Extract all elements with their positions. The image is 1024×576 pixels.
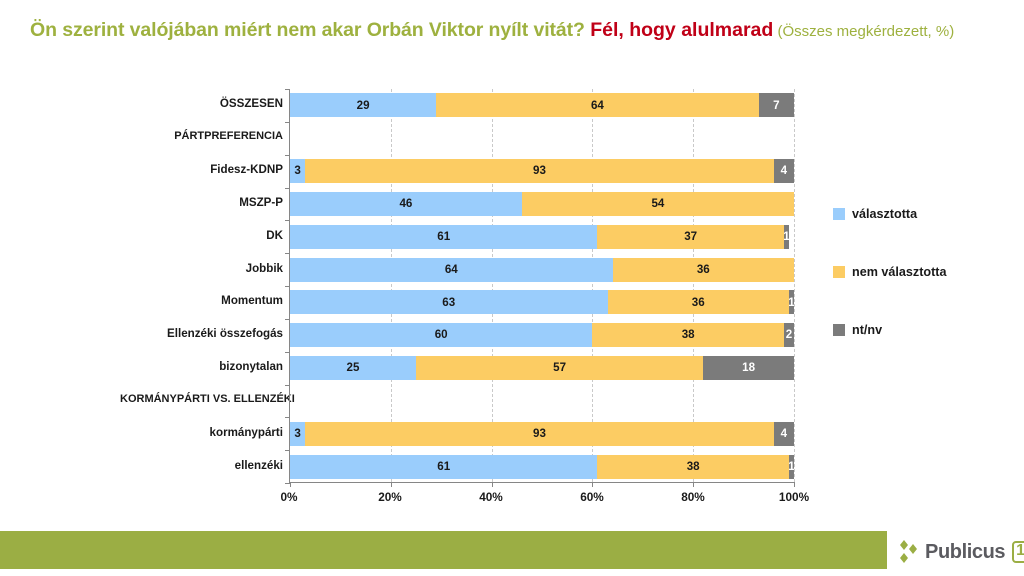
category-label-bizonytalan: bizonytalan — [120, 360, 283, 373]
bar-value-label: 54 — [651, 198, 664, 210]
x-axis-tick — [592, 482, 593, 487]
bar-value-label: 18 — [742, 362, 755, 374]
x-axis-label-40: 40% — [479, 490, 503, 504]
bar-value-label: 7 — [773, 100, 779, 112]
bar-segment-nt-nv[interactable]: 4 — [774, 159, 794, 183]
bar-value-label: 57 — [553, 362, 566, 374]
x-axis-label-0: 0% — [280, 490, 297, 504]
legend-item-nem-v-lasztotta[interactable]: nem választotta — [833, 265, 946, 279]
y-axis-tick — [285, 286, 290, 287]
bar-segment-nt-nv[interactable]: 1 — [784, 225, 789, 249]
bar-value-label: 61 — [437, 231, 450, 243]
bar-value-label: 36 — [692, 297, 705, 309]
legend-swatch-nem-valasztotta — [833, 266, 845, 278]
bar-value-label: 1 — [789, 461, 794, 473]
x-axis-label-20: 20% — [378, 490, 402, 504]
y-axis-tick — [285, 253, 290, 254]
bar-value-label: 29 — [357, 100, 370, 112]
bar-segment-nt-nv[interactable]: 7 — [759, 93, 794, 117]
x-axis-tick — [290, 482, 291, 487]
legend-swatch-valasztotta — [833, 208, 845, 220]
bar-row[interactable]: 3934 — [290, 159, 794, 183]
bar-row[interactable]: 255718 — [290, 356, 794, 380]
bar-value-label: 3 — [294, 428, 300, 440]
bar-value-label: 36 — [697, 264, 710, 276]
bar-segment-v-lasztotta[interactable]: 61 — [290, 455, 597, 479]
x-axis-tick — [492, 482, 493, 487]
bar-row[interactable]: 4654 — [290, 192, 794, 216]
bar-segment-v-lasztotta[interactable]: 3 — [290, 422, 305, 446]
bar-segment-v-lasztotta[interactable]: 46 — [290, 192, 522, 216]
x-axis-tick-labels: 0%20%40%60%80%100% — [289, 490, 794, 510]
category-axis-labels: ÖSSZESENPÁRTPREFERENCIAFidesz-KDNPMSZP-P… — [120, 89, 283, 483]
bar-value-label: 1 — [784, 231, 789, 243]
bar-segment-v-lasztotta[interactable]: 63 — [290, 290, 608, 314]
bar-row[interactable]: 3934 — [290, 422, 794, 446]
bar-value-label: 64 — [591, 100, 604, 112]
bar-segment-nem-v-lasztotta[interactable]: 38 — [597, 455, 789, 479]
title-main-text: Ön szerint valójában miért nem akar Orbá… — [30, 19, 590, 41]
bar-segment-nt-nv[interactable]: 18 — [703, 356, 794, 380]
bar-segment-nem-v-lasztotta[interactable]: 37 — [597, 225, 783, 249]
y-axis-tick — [285, 89, 290, 90]
x-axis-label-80: 80% — [681, 490, 705, 504]
y-axis-tick — [285, 417, 290, 418]
bar-value-label: 4 — [781, 165, 787, 177]
legend-swatch-ntnv — [833, 324, 845, 336]
bar-segment-nt-nv[interactable]: 1 — [789, 455, 794, 479]
slide-root: Ön szerint valójában miért nem akar Orbá… — [0, 0, 1024, 576]
bar-segment-nt-nv[interactable]: 1 — [789, 290, 794, 314]
category-label-sszesen: ÖSSZESEN — [120, 97, 283, 110]
bar-segment-nt-nv[interactable]: 4 — [774, 422, 794, 446]
bar-row[interactable]: 61381 — [290, 455, 794, 479]
bar-value-label: 3 — [294, 165, 300, 177]
category-label-ellenz-ki-sszefog-s: Ellenzéki összefogás — [120, 327, 283, 340]
bar-value-label: 93 — [533, 428, 546, 440]
bar-value-label: 4 — [781, 428, 787, 440]
bar-value-label: 25 — [347, 362, 360, 374]
bar-row[interactable]: 61371 — [290, 225, 794, 249]
category-label-mszp-p: MSZP-P — [120, 196, 283, 209]
legend-label: nem választotta — [852, 265, 946, 279]
legend-label: nt/nv — [852, 323, 882, 337]
bar-segment-nem-v-lasztotta[interactable]: 57 — [416, 356, 703, 380]
title-emphasis-text: Fél, hogy alulmarad — [590, 19, 773, 41]
y-axis-tick — [285, 155, 290, 156]
y-axis-tick — [285, 319, 290, 320]
bar-value-label: 38 — [682, 329, 695, 341]
bar-segment-v-lasztotta[interactable]: 3 — [290, 159, 305, 183]
bar-row[interactable]: 63361 — [290, 290, 794, 314]
bar-segment-v-lasztotta[interactable]: 25 — [290, 356, 416, 380]
publicus-diamond-icon — [897, 540, 919, 564]
bar-segment-nt-nv[interactable]: 2 — [784, 323, 794, 347]
x-axis-tick — [693, 482, 694, 487]
y-axis-tick — [285, 352, 290, 353]
bar-segment-nem-v-lasztotta[interactable]: 93 — [305, 159, 774, 183]
y-axis-tick — [285, 122, 290, 123]
category-label-korm-nyp-rti: kormánypárti — [120, 426, 283, 439]
category-label-p-rtpreferencia: PÁRTPREFERENCIA — [120, 130, 283, 142]
bar-value-label: 2 — [786, 329, 792, 341]
bar-segment-v-lasztotta[interactable]: 60 — [290, 323, 592, 347]
category-label-korm-nyp-rti-vs-ellenz-ki: KORMÁNYPÁRTI VS. ELLENZÉKI — [120, 393, 283, 405]
bar-segment-v-lasztotta[interactable]: 29 — [290, 93, 436, 117]
bar-segment-v-lasztotta[interactable]: 64 — [290, 258, 613, 282]
gridline-100 — [794, 89, 795, 482]
stacked-bar-chart: ÖSSZESENPÁRTPREFERENCIAFidesz-KDNPMSZP-P… — [0, 82, 1024, 502]
legend-item-nt-nv[interactable]: nt/nv — [833, 323, 882, 337]
bar-row[interactable]: 29647 — [290, 93, 794, 117]
category-label-fidesz-kdnp: Fidesz-KDNP — [120, 163, 283, 176]
bar-value-label: 37 — [684, 231, 697, 243]
bar-value-label: 64 — [445, 264, 458, 276]
bar-value-label: 93 — [533, 165, 546, 177]
y-axis-tick — [285, 220, 290, 221]
brand-name-text: Publicus — [925, 541, 1005, 564]
x-axis-tick — [794, 482, 795, 487]
brand-logo: Publicus 15 — [897, 540, 1024, 564]
bar-segment-nem-v-lasztotta[interactable]: 36 — [613, 258, 794, 282]
category-label-dk: DK — [120, 229, 283, 242]
bar-segment-nem-v-lasztotta[interactable]: 38 — [592, 323, 784, 347]
bar-segment-v-lasztotta[interactable]: 61 — [290, 225, 597, 249]
page-title: Ön szerint valójában miért nem akar Orbá… — [30, 18, 995, 43]
y-axis-tick — [285, 188, 290, 189]
bar-value-label: 61 — [437, 461, 450, 473]
y-axis-tick — [285, 450, 290, 451]
bar-segment-nem-v-lasztotta[interactable]: 54 — [522, 192, 794, 216]
category-label-jobbik: Jobbik — [120, 262, 283, 275]
brand-number-badge: 15 — [1012, 541, 1024, 563]
legend-label: választotta — [852, 207, 917, 221]
category-label-ellenz-ki: ellenzéki — [120, 459, 283, 472]
plot-area: 2964739344654613716436633616038225571839… — [289, 89, 794, 483]
footer-bar — [0, 531, 887, 569]
legend-item-v-lasztotta[interactable]: választotta — [833, 207, 917, 221]
bar-segment-nem-v-lasztotta[interactable]: 36 — [608, 290, 789, 314]
bar-value-label: 60 — [435, 329, 448, 341]
bar-value-label: 38 — [687, 461, 700, 473]
bar-segment-nem-v-lasztotta[interactable]: 93 — [305, 422, 774, 446]
bar-value-label: 1 — [789, 297, 794, 309]
x-axis-label-60: 60% — [580, 490, 604, 504]
x-axis-label-100: 100% — [779, 490, 809, 504]
bar-row[interactable]: 60382 — [290, 323, 794, 347]
title-subtitle-text: (Összes megkérdezett, %) — [773, 23, 954, 40]
y-axis-tick — [285, 385, 290, 386]
bar-row[interactable]: 6436 — [290, 258, 794, 282]
bar-segment-nem-v-lasztotta[interactable]: 64 — [436, 93, 759, 117]
category-label-momentum: Momentum — [120, 294, 283, 307]
x-axis-tick — [391, 482, 392, 487]
bar-value-label: 46 — [399, 198, 412, 210]
bar-value-label: 63 — [442, 297, 455, 309]
